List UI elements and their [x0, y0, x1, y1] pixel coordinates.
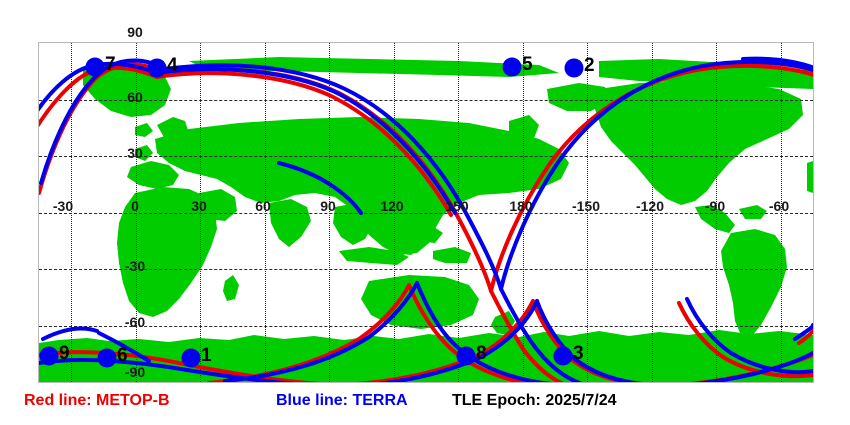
- satellite-marker-1[interactable]: [182, 349, 201, 368]
- satellite-marker-label-9: 9: [59, 343, 70, 365]
- lat-tick--90: -90: [125, 364, 145, 380]
- lon-tick--30: -30: [53, 198, 73, 214]
- satellite-marker-label-4: 4: [167, 55, 178, 77]
- lat-tick--30: -30: [125, 258, 145, 274]
- lat-tick-30: 30: [127, 145, 143, 161]
- satellite-marker-8[interactable]: [457, 347, 476, 366]
- lon-tick--60: -60: [769, 198, 789, 214]
- track-metop-b: [39, 63, 813, 382]
- lon-tick-30: 30: [191, 198, 207, 214]
- lon-tick--90: -90: [705, 198, 725, 214]
- map-plot-area: 7 4 5 2 9 6 1 8 3: [38, 42, 814, 383]
- lon-tick-60: 60: [255, 198, 271, 214]
- lon-tick--150: -150: [572, 198, 600, 214]
- satellite-marker-label-7: 7: [105, 54, 116, 76]
- legend-item-metop-b: Red line: METOP-B: [24, 392, 170, 410]
- satellite-marker-label-8: 8: [476, 343, 487, 365]
- satellite-marker-4[interactable]: [148, 59, 167, 78]
- satellite-marker-6[interactable]: [98, 349, 117, 368]
- lat-tick-60: 60: [127, 89, 143, 105]
- lon-tick-120: 120: [380, 198, 403, 214]
- lon-tick-180: 180: [509, 198, 532, 214]
- satellite-marker-5[interactable]: [503, 58, 522, 77]
- legend-tle-epoch: TLE Epoch: 2025/7/24: [452, 392, 617, 410]
- satellite-marker-7[interactable]: [86, 58, 105, 77]
- satellite-marker-2[interactable]: [565, 59, 584, 78]
- satellite-marker-label-3: 3: [573, 343, 584, 365]
- satellite-marker-label-5: 5: [522, 54, 533, 76]
- satellite-marker-label-1: 1: [201, 345, 212, 367]
- lon-tick-150: 150: [445, 198, 468, 214]
- lon-tick--120: -120: [636, 198, 664, 214]
- lon-tick-90: 90: [320, 198, 336, 214]
- lat-tick--60: -60: [125, 314, 145, 330]
- ground-track-map-page: 7 4 5 2 9 6 1 8 3 90 60 30 -30 -60 -90 -…: [0, 0, 850, 425]
- satellite-marker-9[interactable]: [40, 347, 59, 366]
- legend: Red line: METOP-B Blue line: TERRA TLE E…: [0, 392, 850, 420]
- ground-track-layer: [39, 43, 813, 382]
- legend-item-terra: Blue line: TERRA: [276, 392, 408, 410]
- lat-tick-90: 90: [127, 24, 143, 40]
- satellite-marker-3[interactable]: [554, 347, 573, 366]
- satellite-marker-label-2: 2: [584, 55, 595, 77]
- lon-tick-0: 0: [131, 198, 139, 214]
- map-clip: 7 4 5 2 9 6 1 8 3: [39, 43, 813, 382]
